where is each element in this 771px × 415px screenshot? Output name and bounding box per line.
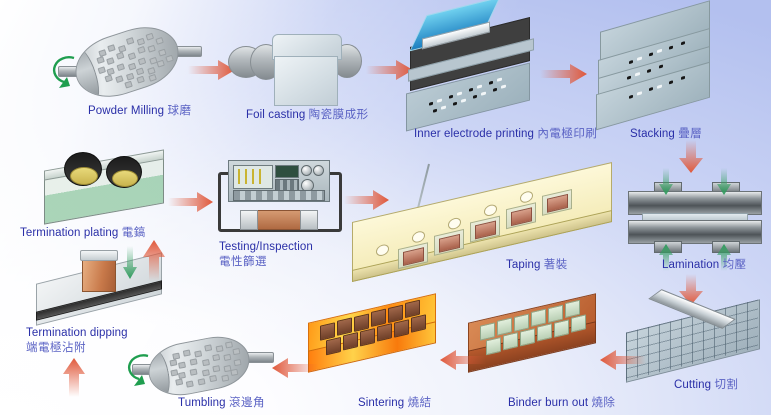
label-tumbling-cjk: 滾邊角 (229, 395, 265, 409)
label-stacking: Stacking 疊層 (630, 127, 702, 141)
tumbler-body (144, 331, 254, 402)
label-stacking-en: Stacking (630, 128, 678, 140)
tumbler-rotation-arrow-icon (120, 348, 158, 395)
test-instrument-panel (228, 160, 330, 202)
drum-body (67, 17, 186, 107)
press-force-arrow-top-right (716, 168, 732, 196)
label-binder-burn-out: Binder burn out 燒除 (508, 396, 615, 410)
press-force-arrow-top-left (658, 168, 674, 196)
drum-powder-fill (69, 18, 186, 105)
label-sintering-en: Sintering (358, 397, 408, 409)
label-taping: Taping 著裝 (506, 258, 568, 272)
label-termination-plating: Termination plating 電鎬 (20, 226, 146, 240)
paste-cup-lid (80, 250, 118, 261)
label-termination-dipping-cjk: 端電極沾附 (26, 340, 86, 354)
label-cutting-en: Cutting (674, 379, 714, 391)
instrument-knob-2 (313, 165, 324, 176)
label-tumbling-en: Tumbling (178, 397, 229, 409)
taping-illustration (350, 168, 618, 280)
rotation-arrow-icon (44, 48, 84, 97)
foil-casting-illustration (228, 22, 378, 102)
label-cutting-cjk: 切割 (714, 377, 738, 391)
label-cutting: Cutting 切割 (674, 378, 738, 392)
label-powder-milling: Powder Milling 球磨 (88, 104, 191, 118)
label-termination-dipping-en: Termination dipping (26, 327, 128, 339)
label-powder-milling-en: Powder Milling (88, 105, 167, 117)
stacking-illustration (592, 8, 722, 120)
label-lamination-cjk: 均壓 (723, 257, 747, 271)
inner-electrode-printing-illustration (404, 6, 546, 118)
dut-terminal-left (240, 210, 258, 230)
arrow-plating-to-testing (168, 190, 214, 214)
label-binder-burn-out-cjk: 燒除 (591, 395, 615, 409)
label-termination-plating-cjk: 電鎬 (122, 225, 146, 239)
label-inner-electrode-printing: Inner electrode printing 內電極印刷 (414, 127, 597, 141)
arrow-binder-to-sintering (440, 348, 486, 372)
termination-plating-illustration (38, 150, 168, 224)
label-foil-casting: Foil casting 陶瓷膜成形 (246, 108, 369, 122)
tumbler-chip-fill (145, 332, 253, 400)
label-testing-inspection: Testing/Inspection 電性篩選 (219, 240, 339, 269)
label-sintering: Sintering 燒結 (358, 396, 432, 410)
ceramic-foil-drape (274, 56, 338, 106)
arrow-stacking-to-lamination (678, 140, 704, 174)
arrow-printing-to-stacking (540, 62, 588, 86)
testing-inspection-illustration (216, 158, 342, 248)
instrument-readout (275, 165, 299, 178)
label-inner-electrode-en: Inner electrode printing (414, 128, 537, 140)
arrow-dipping-to-plating (142, 240, 166, 282)
arrow-sintering-to-tumbling (272, 356, 318, 380)
lamination-illustration (626, 182, 762, 258)
press-platen-bottom (628, 220, 762, 244)
instrument-display (233, 165, 273, 189)
plating-barrel-left (64, 152, 102, 186)
instrument-bottom-row (233, 190, 325, 201)
label-testing-inspection-en: Testing/Inspection (219, 241, 313, 253)
label-taping-en: Taping (506, 259, 544, 271)
label-termination-dipping: Termination dipping 端電極沾附 (26, 326, 156, 355)
label-foil-casting-cjk: 陶瓷膜成形 (309, 107, 369, 121)
process-flow-diagram: Powder Milling 球磨 Foil casting 陶瓷膜成形 (0, 0, 771, 415)
press-platen-top (628, 191, 762, 215)
label-foil-casting-en: Foil casting (246, 109, 309, 121)
dut-terminal-right (300, 210, 318, 230)
label-tumbling: Tumbling 滾邊角 (178, 396, 265, 410)
powder-milling-illustration (48, 22, 208, 100)
label-binder-burn-out-en: Binder burn out (508, 397, 591, 409)
label-testing-inspection-cjk: 電性篩選 (219, 254, 267, 268)
label-powder-milling-cjk: 球磨 (167, 103, 191, 117)
paste-cup (82, 256, 116, 292)
label-termination-plating-en: Termination plating (20, 227, 122, 239)
sintering-illustration (302, 306, 442, 372)
label-lamination: Lamination 均壓 (662, 258, 747, 272)
tumbler-shaft-right (246, 352, 274, 363)
plating-barrel-right-load (112, 170, 138, 187)
carrier-tape-contents (352, 162, 610, 280)
plating-barrel-left-load (70, 167, 98, 185)
label-inner-electrode-cjk: 內電極印刷 (537, 126, 597, 140)
label-stacking-cjk: 疊層 (678, 126, 702, 140)
instrument-knob-1 (301, 165, 312, 176)
arrow-cutting-to-binder (600, 348, 646, 372)
plating-barrel-right (106, 156, 142, 188)
label-sintering-cjk: 燒結 (408, 395, 432, 409)
label-lamination-en: Lamination (662, 259, 723, 271)
label-taping-cjk: 著裝 (544, 257, 568, 271)
arrow-dip-down (122, 246, 138, 280)
device-under-test (254, 210, 304, 230)
arrow-tumbling-to-dipping (62, 358, 86, 398)
